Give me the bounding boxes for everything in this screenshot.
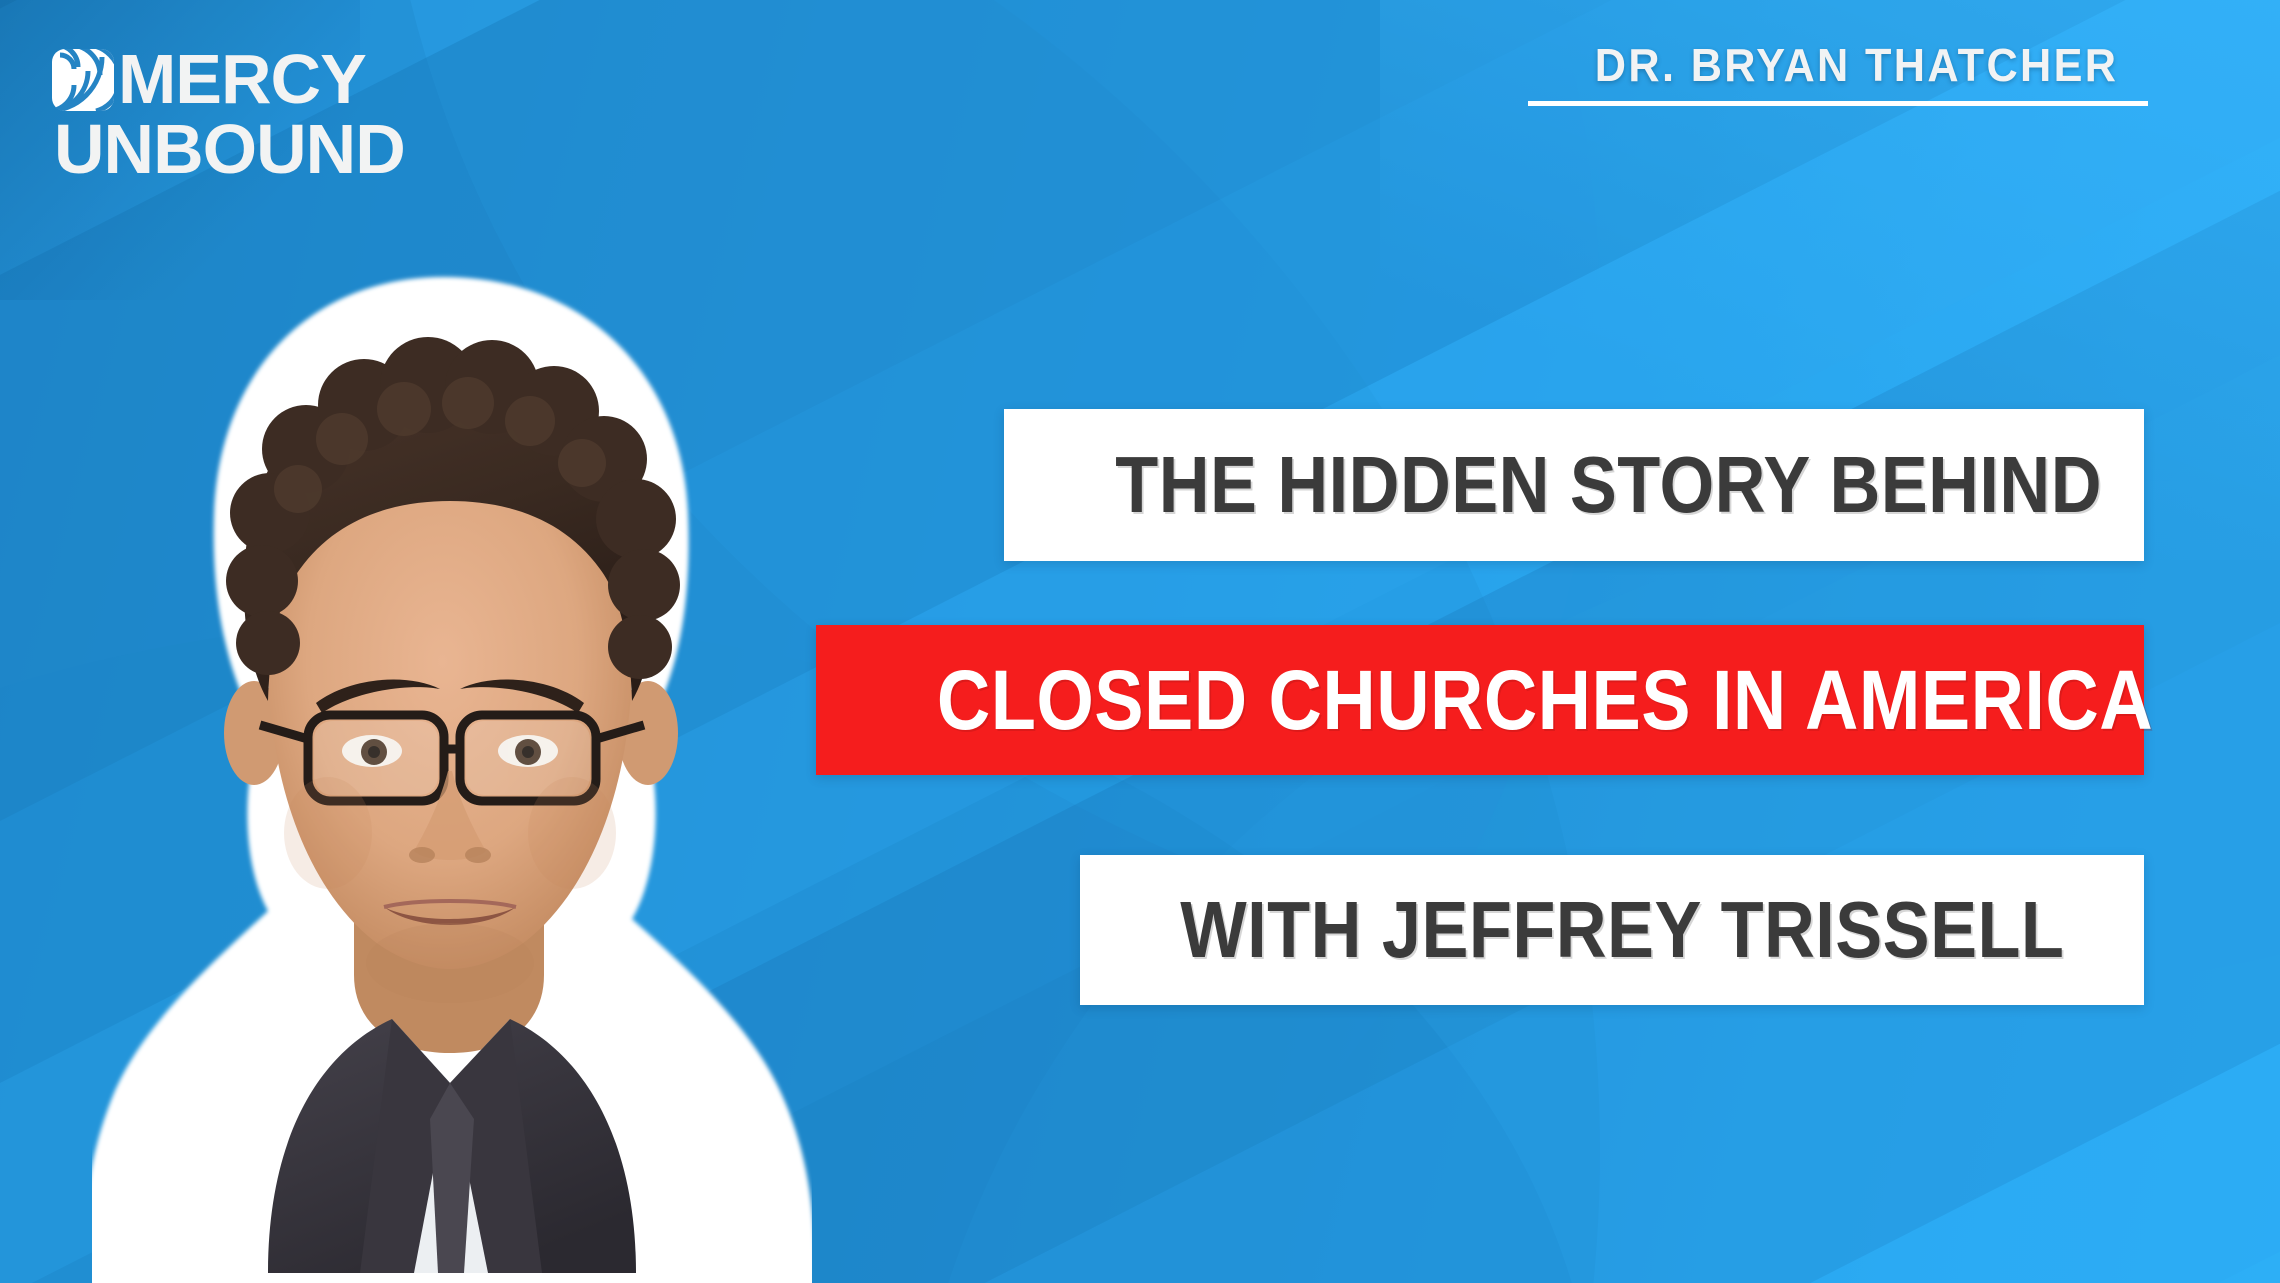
host-name: DR. BRYAN THATCHER bbox=[1565, 38, 2148, 92]
brand-name-line-2: UNBOUND bbox=[54, 112, 405, 186]
thumbnail-canvas: MERCY UNBOUND DR. BRYAN THATCHER bbox=[0, 0, 2280, 1283]
brand-name-line-1: MERCY bbox=[118, 46, 366, 112]
guest-portrait bbox=[92, 263, 812, 1283]
brand-logo: MERCY UNBOUND bbox=[52, 46, 405, 186]
title-bar-line-2: CLOSED CHURCHES IN AMERICA bbox=[816, 625, 2144, 775]
host-credit: DR. BRYAN THATCHER bbox=[1528, 38, 2148, 106]
title-bar-line-1: THE HIDDEN STORY BEHIND bbox=[1004, 409, 2144, 561]
brand-logo-top-row: MERCY bbox=[52, 46, 405, 112]
wave-arcs-mark-icon bbox=[52, 49, 114, 111]
title-line-3-text: WITH JEFFREY TRISSELL bbox=[1180, 884, 2064, 976]
title-line-1-text: THE HIDDEN STORY BEHIND bbox=[1115, 439, 2102, 531]
host-name-underline bbox=[1528, 101, 2148, 106]
title-line-2-text: CLOSED CHURCHES IN AMERICA bbox=[937, 652, 2153, 749]
title-bar-line-3: WITH JEFFREY TRISSELL bbox=[1080, 855, 2144, 1005]
